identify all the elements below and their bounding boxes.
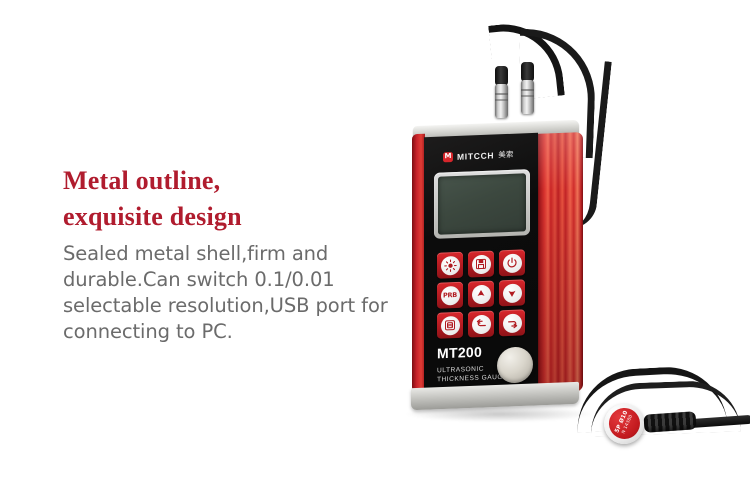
cable-boot-left xyxy=(495,66,508,86)
probe-strain-relief xyxy=(643,411,696,433)
key-power[interactable] xyxy=(499,249,525,276)
key-memory[interactable] xyxy=(437,312,463,339)
floppy-disk-icon xyxy=(472,254,491,274)
probe-label: 5P Ø10 N 14380 xyxy=(614,410,635,437)
key-up[interactable] xyxy=(468,281,494,308)
arrow-down-icon xyxy=(503,283,522,303)
arrow-up-icon xyxy=(472,284,491,304)
power-icon xyxy=(503,253,522,273)
key-probe-label: PRB xyxy=(443,291,457,300)
brand-name-cn: 美索 xyxy=(498,149,514,161)
back-arrow-icon xyxy=(472,314,491,334)
sun-icon xyxy=(441,255,460,275)
key-save[interactable] xyxy=(468,251,494,278)
model-name: MT200 xyxy=(437,344,508,361)
device-right-ribbed-side xyxy=(537,132,583,393)
lcd-bezel xyxy=(434,169,530,239)
logo-mark-icon: M xyxy=(443,151,453,161)
keypad[interactable]: PRB xyxy=(437,249,527,338)
ultrasonic-thickness-gauge: M MITCCH 美索 xyxy=(408,123,584,413)
key-back[interactable] xyxy=(468,311,494,338)
cable-boot-right xyxy=(521,62,534,82)
probe-face: 5P Ø10 N 14380 xyxy=(608,407,641,440)
product-photo: M MITCCH 美索 xyxy=(0,0,750,488)
enter-arrow-icon xyxy=(503,313,522,333)
key-down[interactable] xyxy=(499,279,525,306)
brand-name: MITCCH xyxy=(457,150,494,161)
memory-icon xyxy=(441,315,460,335)
key-enter[interactable] xyxy=(499,309,525,336)
key-probe[interactable]: PRB xyxy=(437,282,463,309)
cable-connector-right xyxy=(521,80,534,114)
cable-connector-left xyxy=(495,84,508,118)
lcd-screen xyxy=(438,173,526,234)
prb-text-icon: PRB xyxy=(441,285,460,305)
key-backlight[interactable] xyxy=(437,252,463,279)
